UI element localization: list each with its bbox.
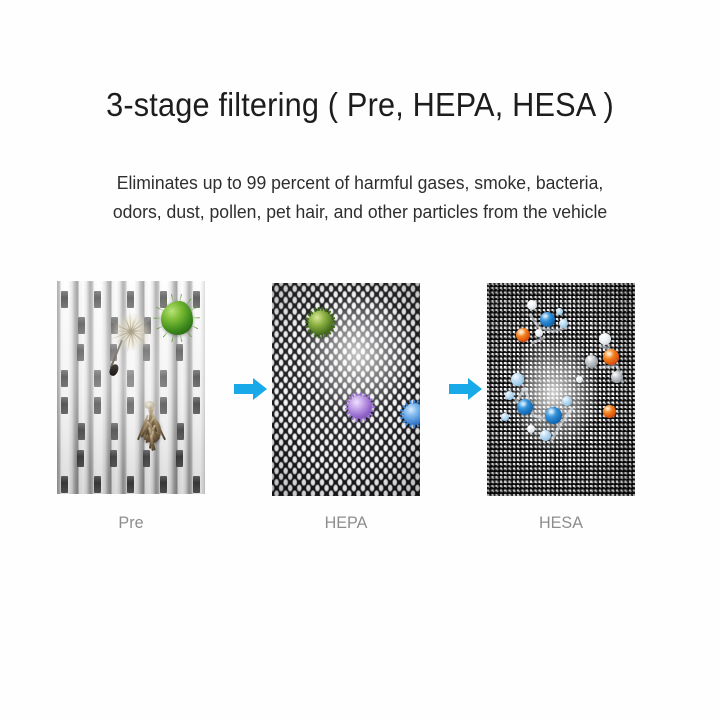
molecule-atom bbox=[540, 312, 555, 327]
page-title: 3-stage filtering ( Pre, HEPA, HESA ) bbox=[25, 84, 695, 126]
stage-label-pre: Pre bbox=[61, 513, 202, 533]
molecule-atom bbox=[516, 328, 530, 342]
arrow-hepa-to-hesa-icon bbox=[449, 376, 483, 402]
hesa-vignette bbox=[487, 283, 635, 496]
molecule-atom bbox=[501, 413, 509, 421]
molecule-atom bbox=[527, 425, 535, 433]
molecule-atom bbox=[511, 373, 524, 386]
molecule-atom bbox=[527, 300, 537, 310]
subtitle-line-2: odors, dust, pollen, pet hair, and other… bbox=[18, 197, 702, 226]
molecule-atom bbox=[585, 355, 598, 368]
stage-image-hesa bbox=[487, 283, 635, 496]
molecule-atom bbox=[545, 407, 562, 424]
molecule-atom bbox=[540, 430, 551, 441]
green-virus-particle bbox=[308, 310, 333, 335]
pet-hair-clump-particle bbox=[135, 397, 169, 451]
page-subtitle: Eliminates up to 99 percent of harmful g… bbox=[18, 168, 702, 226]
purple-virus-particle bbox=[348, 395, 372, 419]
molecule-atom bbox=[556, 308, 563, 315]
molecule-atom bbox=[576, 376, 583, 383]
molecule-atom bbox=[562, 396, 572, 406]
filtering-infographic: 3-stage filtering ( Pre, HEPA, HESA ) El… bbox=[0, 0, 720, 720]
green-fragment-body bbox=[161, 301, 193, 335]
arrow-pre-to-hepa-icon bbox=[234, 376, 268, 402]
molecule-atom bbox=[535, 329, 543, 337]
green-plant-fragment-particle bbox=[161, 301, 193, 335]
molecule-atom bbox=[517, 399, 533, 415]
subtitle-line-1: Eliminates up to 99 percent of harmful g… bbox=[18, 168, 702, 197]
molecule-atom bbox=[603, 349, 619, 365]
molecule-atom bbox=[603, 405, 616, 418]
blue-virus-particle bbox=[403, 403, 420, 425]
molecule-atom bbox=[599, 333, 611, 345]
molecule-atom bbox=[505, 391, 514, 400]
molecule-atom bbox=[611, 371, 623, 383]
molecule-atom bbox=[559, 319, 568, 328]
stage-label-hesa: HESA bbox=[491, 513, 632, 533]
dandelion-seed-particle bbox=[105, 311, 159, 365]
stage-label-hepa: HEPA bbox=[276, 513, 417, 533]
stage-image-hepa bbox=[272, 283, 420, 496]
hepa-vignette bbox=[272, 283, 420, 496]
stage-image-pre bbox=[57, 281, 205, 494]
